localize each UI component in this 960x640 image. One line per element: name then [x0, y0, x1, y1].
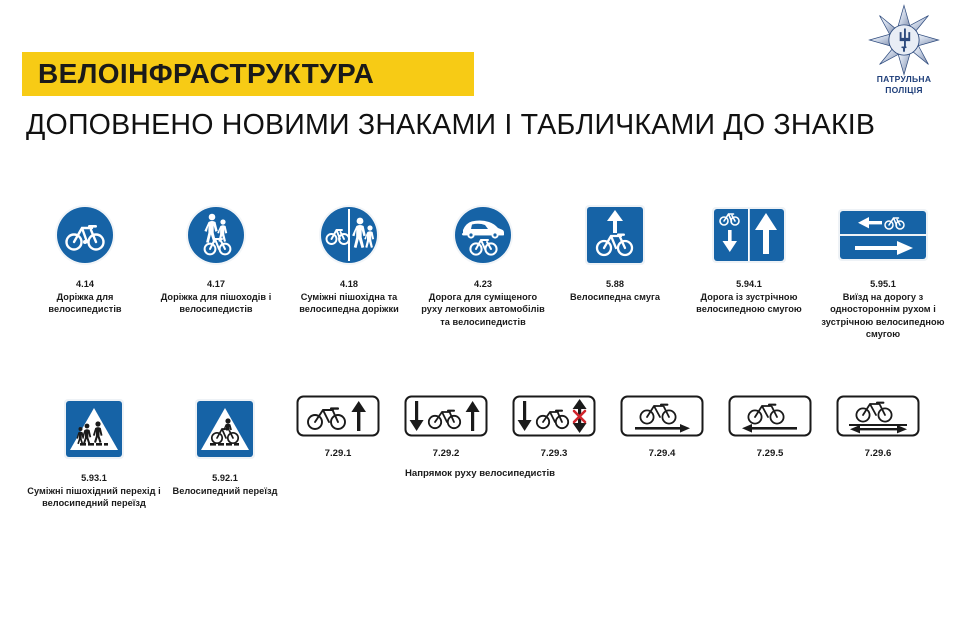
sign-code: 4.14 — [24, 278, 146, 291]
sign-item-5-88[interactable]: 5.88 Велосипедна смуга — [556, 196, 674, 303]
sign-caption: 4.17 Доріжка для пішоходів і велосипедис… — [155, 278, 277, 316]
page-subtitle: ДОПОВНЕНО НОВИМИ ЗНАКАМИ І ТАБЛИЧКАМИ ДО… — [26, 108, 875, 142]
bicycle-lane-sign — [556, 196, 674, 274]
plate-bicycle-right-arrow — [614, 390, 710, 442]
sign-item-4-23[interactable]: 4.23 Дорога для суміщеного руху легкових… — [420, 196, 546, 328]
sign-item-5-93-1[interactable]: 5.93.1 Суміжні пішохідний перехід і вело… — [24, 390, 164, 510]
sign-item-5-95-1[interactable]: 5.95.1 Виїзд на дорогу з одностороннім р… — [820, 196, 946, 341]
sign-caption: 5.88 Велосипедна смуга — [556, 278, 674, 303]
sign-item-4-14[interactable]: 4.14 Доріжка для велосипедистів — [24, 196, 146, 316]
plate-code: 7.29.5 — [722, 448, 818, 459]
sign-name: Суміжні пішохідна та велосипедна доріжки — [299, 292, 399, 315]
page-header: ВЕЛОІНФРАСТРУКТУРА ДОПОВНЕНО НОВИМИ ЗНАК… — [0, 0, 960, 160]
plate-code: 7.29.2 — [398, 448, 494, 459]
sign-name: Велосипедний переїзд — [173, 486, 278, 496]
plates-group-caption: Напрямок руху велосипедистів — [0, 468, 960, 479]
police-logo: ПАТРУЛЬНА ПОЛІЦІЯ — [858, 4, 950, 102]
sign-item-4-18[interactable]: 4.18 Суміжні пішохідна та велосипедна до… — [290, 196, 408, 316]
sign-caption: 5.95.1 Виїзд на дорогу з одностороннім р… — [820, 278, 946, 341]
car-bicycle-shared-road-sign — [420, 196, 546, 274]
sign-name: Дорога для суміщеного руху легкових авто… — [421, 292, 545, 327]
sign-code: 4.18 — [290, 278, 408, 291]
sign-caption: 4.23 Дорога для суміщеного руху легкових… — [420, 278, 546, 328]
plate-down-bicycle-up-arrows — [398, 390, 494, 442]
police-logo-text: ПАТРУЛЬНА ПОЛІЦІЯ — [858, 74, 950, 96]
bicycle-crossing-sign — [166, 390, 284, 468]
sign-item-5-92-1[interactable]: 5.92.1 Велосипедний переїзд — [166, 390, 284, 497]
plate-bicycle-up-arrow — [290, 390, 386, 442]
sign-code: 5.94.1 — [688, 278, 810, 291]
plate-item-7-29-5[interactable]: 7.29.5 — [722, 390, 818, 459]
separated-pedestrian-bicycle-path-sign — [290, 196, 408, 274]
sign-name: Дорога із зустрічною велосипедною смугою — [696, 292, 802, 315]
plate-code: 7.29.6 — [830, 448, 926, 459]
sign-code: 4.23 — [420, 278, 546, 291]
pedestrian-bicycle-crossing-sign — [24, 390, 164, 468]
sign-item-5-94-1[interactable]: 5.94.1 Дорога із зустрічною велосипедною… — [688, 196, 810, 316]
plate-item-7-29-6[interactable]: 7.29.6 — [830, 390, 926, 459]
plate-down-bicycle-blocked-arrow — [506, 390, 602, 442]
sign-caption: 4.18 Суміжні пішохідна та велосипедна до… — [290, 278, 408, 316]
logo-line-2: ПОЛІЦІЯ — [885, 85, 923, 95]
plate-bicycle-two-way-arrow — [830, 390, 926, 442]
plate-item-7-29-2[interactable]: 7.29.2 — [398, 390, 494, 459]
sign-name: Виїзд на дорогу з одностороннім рухом і … — [821, 292, 944, 340]
contraflow-bicycle-lane-sign — [688, 196, 810, 274]
sign-caption: 5.94.1 Дорога із зустрічною велосипедною… — [688, 278, 810, 316]
sign-code: 4.17 — [155, 278, 277, 291]
plate-code: 7.29.4 — [614, 448, 710, 459]
sign-caption: 4.14 Доріжка для велосипедистів — [24, 278, 146, 316]
plate-code: 7.29.1 — [290, 448, 386, 459]
sign-item-4-17[interactable]: 4.17 Доріжка для пішоходів і велосипедис… — [155, 196, 277, 316]
plate-item-7-29-1[interactable]: 7.29.1 — [290, 390, 386, 459]
sign-code: 5.95.1 — [820, 278, 946, 291]
shared-pedestrian-bicycle-path-sign — [155, 196, 277, 274]
signs-row-secondary: 5.93.1 Суміжні пішохідний перехід і вело… — [0, 390, 960, 570]
page-title: ВЕЛОІНФРАСТРУКТУРА — [38, 58, 374, 90]
bicycle-path-sign — [24, 196, 146, 274]
police-star-badge-icon — [868, 4, 940, 76]
oneway-exit-contraflow-bicycle-sign — [820, 196, 946, 274]
plate-code: 7.29.3 — [506, 448, 602, 459]
plate-item-7-29-3[interactable]: 7.29.3 — [506, 390, 602, 459]
sign-name: Велосипедна смуга — [570, 292, 660, 302]
sign-name: Суміжні пішохідний перехід і велосипедни… — [27, 486, 160, 509]
sign-code: 5.88 — [556, 278, 674, 291]
sign-name: Доріжка для пішоходів і велосипедистів — [161, 292, 272, 315]
plate-item-7-29-4[interactable]: 7.29.4 — [614, 390, 710, 459]
plate-bicycle-left-arrow — [722, 390, 818, 442]
sign-name: Доріжка для велосипедистів — [48, 292, 121, 315]
signs-row-primary: 4.14 Доріжка для велосипедистів — [0, 196, 960, 376]
logo-line-1: ПАТРУЛЬНА — [877, 74, 932, 84]
